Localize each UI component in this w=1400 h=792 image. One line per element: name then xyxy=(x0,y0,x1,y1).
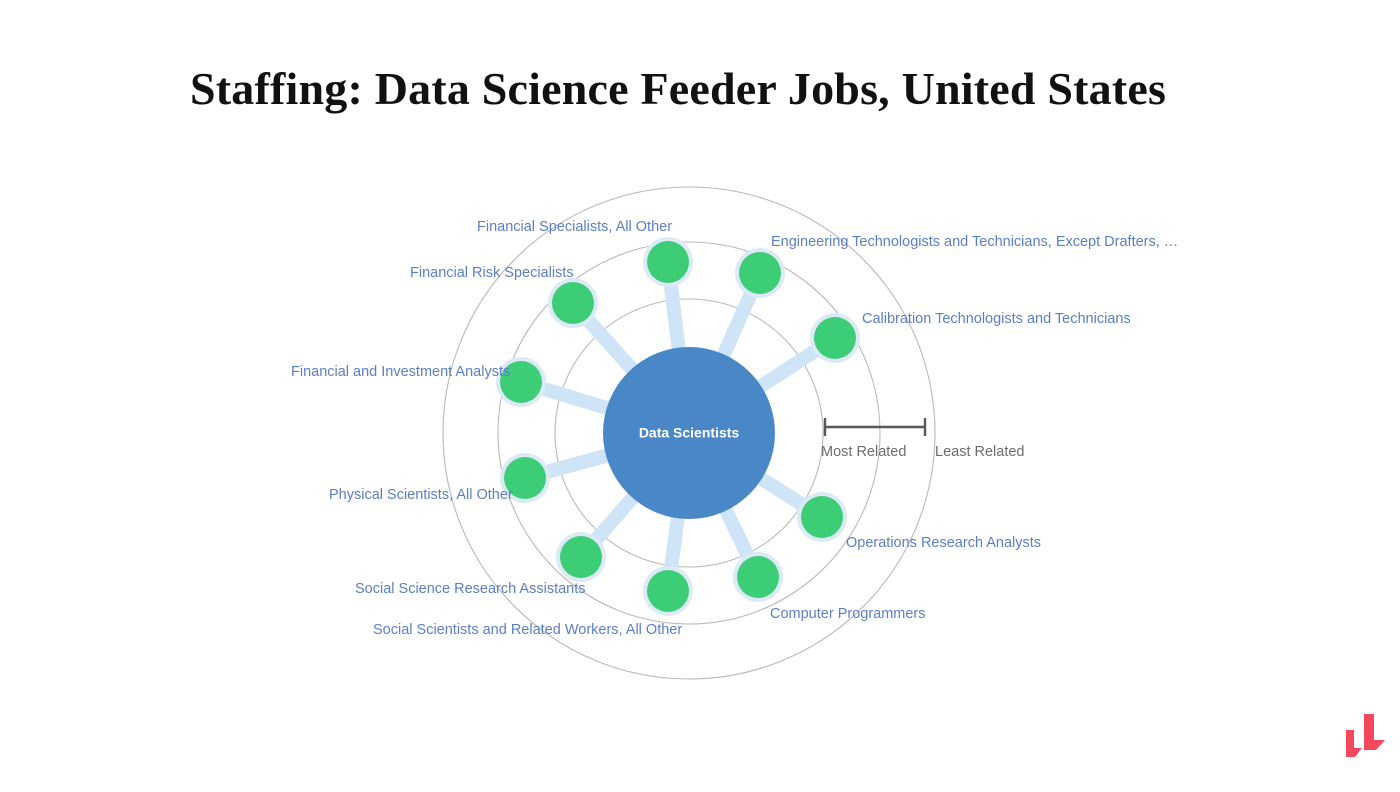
node-label: Social Scientists and Related Workers, A… xyxy=(373,622,682,638)
slide-canvas: Staffing: Data Science Feeder Jobs, Unit… xyxy=(0,0,1400,792)
node-dot[interactable] xyxy=(739,252,781,294)
node-dot[interactable] xyxy=(560,536,602,578)
node-label: Operations Research Analysts xyxy=(846,535,1041,551)
spoke-1 xyxy=(670,277,679,352)
brand-logo xyxy=(1336,712,1386,762)
spoke-2 xyxy=(722,287,754,358)
node-label: Financial Specialists, All Other xyxy=(477,219,672,235)
spoke-7 xyxy=(591,495,635,546)
relatedness-legend: Most Related Least Related xyxy=(821,418,1024,460)
spoke-10 xyxy=(583,314,634,372)
node-dot[interactable] xyxy=(552,282,594,324)
node-label: Computer Programmers xyxy=(770,606,926,622)
node-dot[interactable] xyxy=(801,496,843,538)
logo-shape-right xyxy=(1364,714,1385,750)
node-label: Calibration Technologists and Technician… xyxy=(862,311,1131,327)
node-dot[interactable] xyxy=(647,241,689,283)
logo-shape-left xyxy=(1346,730,1362,757)
spoke-8 xyxy=(539,455,609,474)
node-label: Social Science Research Assistants xyxy=(355,581,586,597)
node-label: Physical Scientists, All Other xyxy=(329,487,513,503)
spoke-9 xyxy=(535,386,610,409)
legend-most-related-label: Most Related xyxy=(821,444,906,460)
node-label: Financial Risk Specialists xyxy=(410,265,574,281)
node-dot[interactable] xyxy=(737,556,779,598)
radial-network-diagram: Data Scientists Financial Specialists, A… xyxy=(0,0,1400,792)
node-dot[interactable] xyxy=(647,570,689,612)
legend-least-related-label: Least Related xyxy=(935,444,1024,460)
node-dot[interactable] xyxy=(814,317,856,359)
hub-node[interactable]: Data Scientists xyxy=(603,347,775,519)
node-label: Engineering Technologists and Technician… xyxy=(771,234,1178,250)
hub-label: Data Scientists xyxy=(639,425,740,441)
node-label: Financial and Investment Analysts xyxy=(291,364,510,380)
